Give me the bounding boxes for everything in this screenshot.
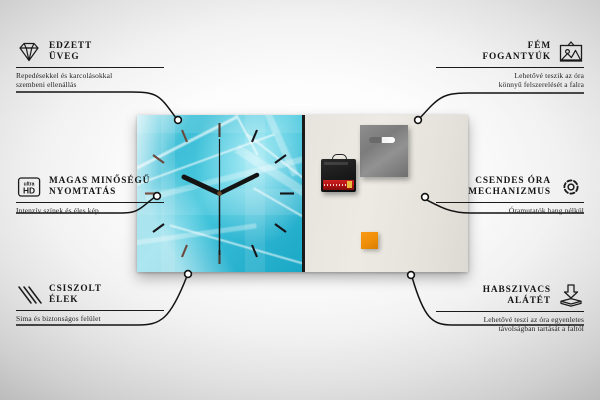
diamond-icon (16, 41, 42, 63)
svg-text:HD: HD (23, 186, 35, 196)
feature-metal-handles[interactable]: FÉM FOGANTYÚK Lehetővé teszik az óra kön… (436, 41, 584, 90)
feature-subtitle-line2: távolságban tartását a faltól (436, 324, 584, 333)
feature-subtitle-line2: szembeni ellenállás (16, 80, 164, 89)
clock-mechanism-box (321, 159, 356, 192)
feature-title-line2: NYOMTATÁS (49, 187, 150, 198)
divider (16, 202, 164, 203)
divider (436, 67, 584, 68)
polished-edges-icon (16, 284, 42, 306)
feature-subtitle-line1: Intenzív színek és éles kép (16, 206, 164, 215)
feature-silent-mechanism[interactable]: CSENDES ÓRA MECHANIZMUS Óramutatók hang … (436, 176, 584, 215)
feature-subtitle-line1: Lehetővé teszi az óra egyenletes (436, 315, 584, 324)
feature-foam-pad[interactable]: HABSZIVACS ALÁTÉT Lehetővé teszi az óra … (436, 284, 584, 334)
foam-pad-icon (558, 284, 584, 308)
divider (436, 311, 584, 312)
picture-frame-icon (558, 41, 584, 63)
foam-pad-sample (361, 232, 378, 249)
feature-subtitle-line2: könnyű felszerelését a falra (436, 80, 584, 89)
feature-polished-edges[interactable]: CSISZOLT ÉLEK Sima és biztonságos felüle… (16, 284, 164, 323)
product-panel (137, 115, 468, 272)
feature-title-line1: EDZETT (49, 41, 92, 52)
feature-title-line1: CSENDES ÓRA (468, 176, 551, 187)
feature-tempered-glass[interactable]: EDZETT ÜVEG Repedésekkel és karcolásokka… (16, 41, 164, 90)
divider (16, 310, 164, 311)
ultra-hd-icon: ultra HD (16, 176, 42, 198)
divider (436, 202, 584, 203)
metal-hanger-plate (360, 125, 408, 177)
feature-title-line1: HABSZIVACS (483, 285, 551, 296)
feature-title-line1: FÉM (482, 41, 551, 52)
feature-subtitle-line1: Sima és biztonságos felület (16, 314, 164, 323)
feature-title-line1: MAGAS MINŐSÉGŰ (49, 176, 150, 187)
feature-title-line1: CSISZOLT (49, 284, 102, 295)
feature-title-line2: ÜVEG (49, 52, 92, 63)
battery (323, 180, 354, 190)
infographic-stage: EDZETT ÜVEG Repedésekkel és karcolásokka… (0, 0, 600, 400)
feature-title-line2: ALÁTÉT (483, 296, 551, 307)
feature-title-line2: ÉLEK (49, 295, 102, 306)
divider (16, 67, 164, 68)
feature-title-line2: MECHANIZMUS (468, 187, 551, 198)
feature-high-quality-print[interactable]: ultra HD MAGAS MINŐSÉGŰ NYOMTATÁS Intenz… (16, 176, 164, 215)
feature-title-line2: FOGANTYÚK (482, 52, 551, 63)
feature-subtitle-line1: Repedésekkel és karcolásokkal (16, 71, 164, 80)
feature-subtitle-line1: Óramutatók hang nélkül (436, 206, 584, 215)
gear-icon (558, 176, 584, 198)
feature-subtitle-line1: Lehetővé teszik az óra (436, 71, 584, 80)
